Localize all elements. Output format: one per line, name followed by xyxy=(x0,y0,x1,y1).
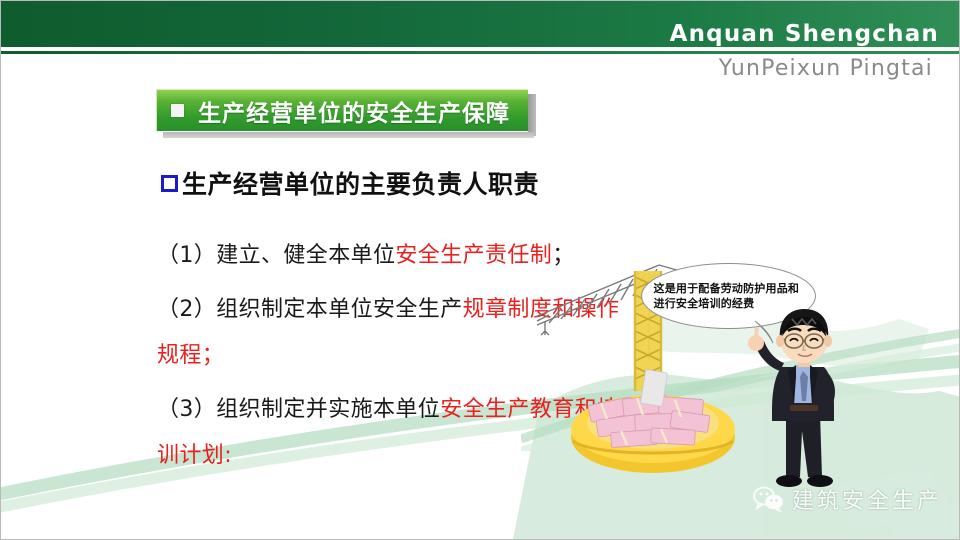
item-black-1: 组织制定本单位安全生产 xyxy=(216,297,462,322)
item-index: （3） xyxy=(157,397,216,422)
banner-body: 生产经营单位的安全生产保障 xyxy=(156,89,528,131)
header-subtitle-en: YunPeixun Pingtai xyxy=(719,56,933,81)
section-headline-text: 生产经营单位的主要负责人职责 xyxy=(182,165,539,201)
presentation-slide: Anquan Shengchan YunPeixun Pingtai 生产经营单… xyxy=(0,0,960,540)
banner-right-shadow xyxy=(528,94,536,136)
blue-hollow-square-icon xyxy=(161,175,178,192)
header-title-en: Anquan Shengchan xyxy=(670,21,939,47)
slide-title-banner: 生产经营单位的安全生产保障 xyxy=(156,89,528,131)
square-bullet-icon xyxy=(171,104,184,117)
section-headline: 生产经营单位的主要负责人职责 xyxy=(161,165,539,201)
item-black-1: 建立、健全本单位 xyxy=(216,243,395,268)
item-index: （2） xyxy=(157,297,216,322)
header-green-rule xyxy=(1,51,960,54)
item-index: （1） xyxy=(157,243,216,268)
header-band: Anquan Shengchan xyxy=(1,1,960,47)
banner-title-text: 生产经营单位的安全生产保障 xyxy=(198,94,510,128)
item-black-1: 组织制定并实施本单位 xyxy=(216,397,440,422)
cartoon-businessman-illustration xyxy=(746,301,866,501)
item-red-1: 安全生产责任制 xyxy=(395,243,552,268)
banner-bottom-shadow xyxy=(163,132,534,138)
